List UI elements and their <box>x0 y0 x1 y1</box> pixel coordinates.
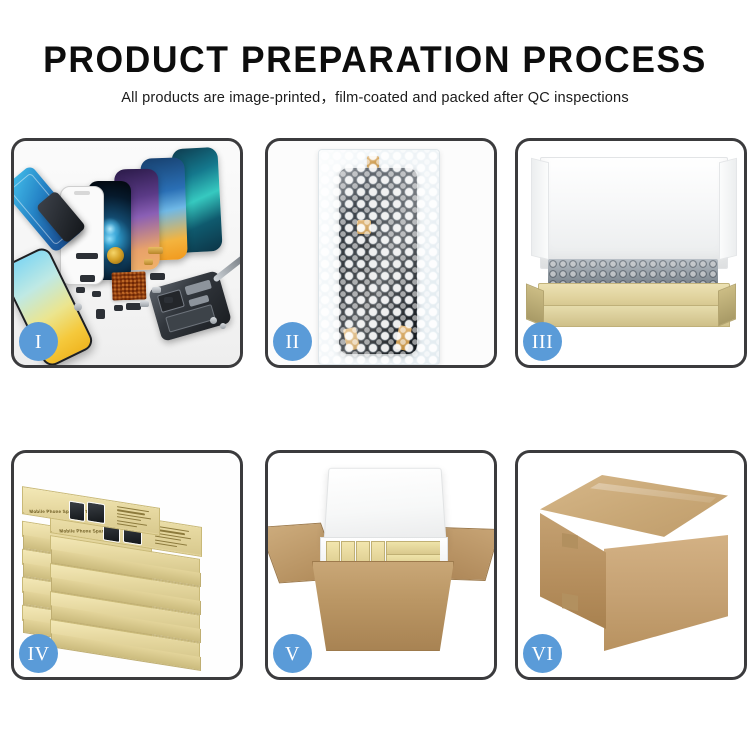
plastic-sheen <box>319 150 439 364</box>
kraft-box-right-flap <box>718 283 736 326</box>
flex-ribbon-board <box>112 271 147 300</box>
kraft-box-front <box>538 305 730 327</box>
carton-body <box>312 561 454 651</box>
spare-part <box>76 287 85 293</box>
step-badge-5: V <box>273 634 312 673</box>
step-badge-3: III <box>523 322 562 361</box>
process-step-panel-5[interactable]: V <box>265 450 497 680</box>
product-preparation-process-page: PRODUCT PREPARATION PROCESS All products… <box>0 0 750 750</box>
spare-part <box>114 305 123 311</box>
spare-part <box>150 273 165 280</box>
phone-chassis-open <box>148 270 232 342</box>
carton-side-face <box>604 535 728 651</box>
process-step-grid: I II <box>11 138 741 680</box>
step-badge-2: II <box>273 322 312 361</box>
spare-part <box>140 301 149 307</box>
spare-part <box>148 247 163 254</box>
speaker-coil-part <box>107 247 124 264</box>
white-foam-lid <box>540 157 728 269</box>
page-subtitle: All products are image-printed，film-coat… <box>0 79 750 108</box>
process-step-panel-4[interactable]: Mobile Phone Spare Parts Mobile Phone Sp… <box>11 450 243 680</box>
spare-part <box>126 303 141 310</box>
process-step-panel-6[interactable]: VI <box>515 450 747 680</box>
spare-part <box>76 253 98 259</box>
carton-front-face <box>540 513 606 629</box>
step-badge-4: IV <box>19 634 58 673</box>
page-title: PRODUCT PREPARATION PROCESS <box>15 0 735 79</box>
foam-lid-open <box>323 468 446 546</box>
process-step-panel-2[interactable]: II <box>265 138 497 368</box>
bubble-bag <box>318 149 440 365</box>
spare-part <box>74 303 82 311</box>
process-step-panel-3[interactable]: III <box>515 138 747 368</box>
spare-part <box>96 309 105 319</box>
spare-part <box>164 297 173 303</box>
bag-body <box>318 149 440 365</box>
step-badge-1: I <box>19 322 58 361</box>
spare-part <box>144 259 153 265</box>
sealed-carton <box>540 475 728 653</box>
kraft-box-left-flap <box>526 283 544 326</box>
spare-part <box>220 323 226 329</box>
carton-flap-tab <box>562 533 578 549</box>
spare-part <box>210 317 217 324</box>
retail-box-stack: Mobile Phone Spare Parts Mobile Phone Sp… <box>20 471 238 667</box>
page-header: PRODUCT PREPARATION PROCESS All products… <box>0 0 750 108</box>
carton-flap-tab <box>562 593 578 611</box>
spare-part <box>152 287 161 293</box>
step-badge-6: VI <box>523 634 562 673</box>
process-step-panel-1[interactable]: I <box>11 138 243 368</box>
spare-part <box>80 275 95 282</box>
spare-part <box>92 291 101 297</box>
screwdriver-tool <box>212 253 240 282</box>
